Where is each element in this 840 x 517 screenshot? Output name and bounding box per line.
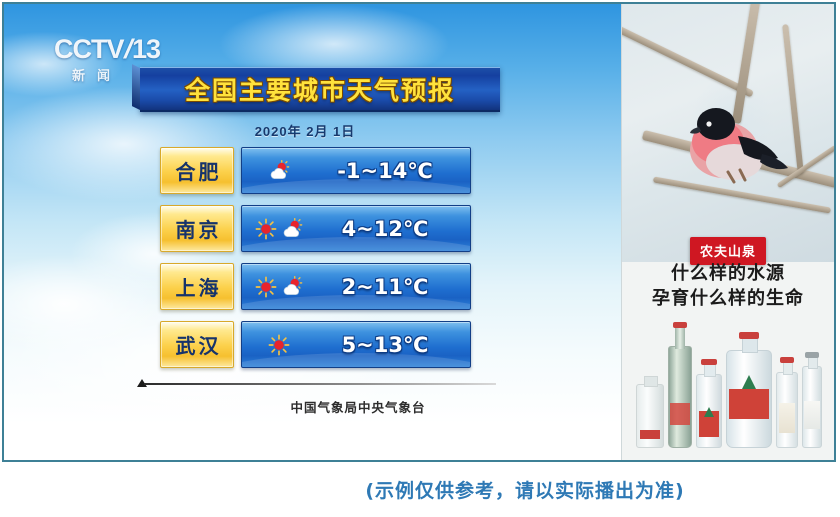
table-row: 南京 — [132, 205, 504, 252]
city-plate: 上海 — [160, 263, 234, 310]
forecast-bar: 5~13℃ — [241, 321, 471, 368]
city-name: 武汉 — [173, 330, 222, 359]
ad-slogan-line-2: 孕育什么样的生命 — [622, 287, 834, 312]
partly-cloudy-icon — [281, 218, 303, 240]
branch-shape — [622, 25, 754, 97]
table-row: 武汉 5~13℃ — [132, 321, 504, 368]
ad-product-lineup — [622, 334, 834, 452]
ad-slogan-line-1: 什么样的水源 — [622, 262, 834, 287]
brand-badge: 农夫山泉 — [690, 237, 766, 265]
forecast-bar: -1~14℃ — [241, 147, 471, 194]
weather-icon-group — [242, 276, 316, 298]
city-plate: 武汉 — [160, 321, 234, 368]
sun-icon — [255, 276, 277, 298]
board-underline — [132, 379, 504, 389]
sun-icon — [255, 218, 277, 240]
bullfinch-bird-illustration — [676, 96, 792, 188]
forecast-date: 2020年 2月 1日 — [132, 121, 504, 140]
forecast-bar: 4~12℃ — [241, 205, 471, 252]
temperature-range: 5~13℃ — [316, 333, 470, 357]
weather-icon-group — [242, 160, 316, 182]
bottle-shape — [802, 366, 822, 448]
forecast-bar: 2~11℃ — [241, 263, 471, 310]
board-title-banner: 全国主要城市天气预报 — [140, 67, 500, 112]
temperature-range: 4~12℃ — [316, 217, 470, 241]
table-row: 合肥 -1~14℃ — [132, 147, 504, 194]
temperature-range: 2~11℃ — [316, 275, 470, 299]
underline-rule — [144, 383, 496, 385]
cctv-wordmark: CCTV — [54, 34, 124, 64]
page-title: 全国主要城市天气预报 — [185, 71, 455, 107]
forecast-source: 中国气象局中央气象台 — [132, 397, 504, 416]
cctv-channel-number: 13 — [132, 34, 160, 64]
city-plate: 南京 — [160, 205, 234, 252]
partly-cloudy-icon — [281, 276, 303, 298]
bottle-shape — [726, 350, 772, 448]
temperature-range: -1~14℃ — [316, 159, 470, 183]
city-name: 南京 — [173, 214, 222, 243]
city-plate: 合肥 — [160, 147, 234, 194]
ad-slogan: 什么样的水源 孕育什么样的生命 — [622, 262, 834, 312]
sun-icon — [268, 334, 290, 356]
bottle-shape — [776, 372, 798, 448]
advertisement-panel[interactable]: 农夫山泉 什么样的水源 孕育什么样的生命 — [621, 4, 834, 460]
weather-forecast-board: 全国主要城市天气预报 2020年 2月 1日 合肥 — [132, 67, 504, 417]
table-row: 上海 — [132, 263, 504, 310]
bottle-shape — [696, 374, 722, 448]
bottle-shape — [668, 346, 692, 448]
tv-broadcast-frame: CCTV/13 新闻 全国主要城市天气预报 2020年 2月 1日 合肥 — [2, 2, 836, 462]
disclaimer-caption: (示例仅供参考，请以实际播出为准) — [0, 476, 840, 503]
city-name: 合肥 — [173, 156, 222, 185]
partly-cloudy-icon — [268, 160, 290, 182]
cctv-logo-text: CCTV/13 — [54, 36, 184, 63]
ad-photo-bullfinch — [622, 4, 834, 262]
weather-icon-group — [242, 334, 316, 356]
board-body: 2020年 2月 1日 合肥 — [132, 112, 504, 416]
bottle-shape — [636, 384, 664, 448]
city-name: 上海 — [173, 272, 222, 301]
weather-icon-group — [242, 218, 316, 240]
